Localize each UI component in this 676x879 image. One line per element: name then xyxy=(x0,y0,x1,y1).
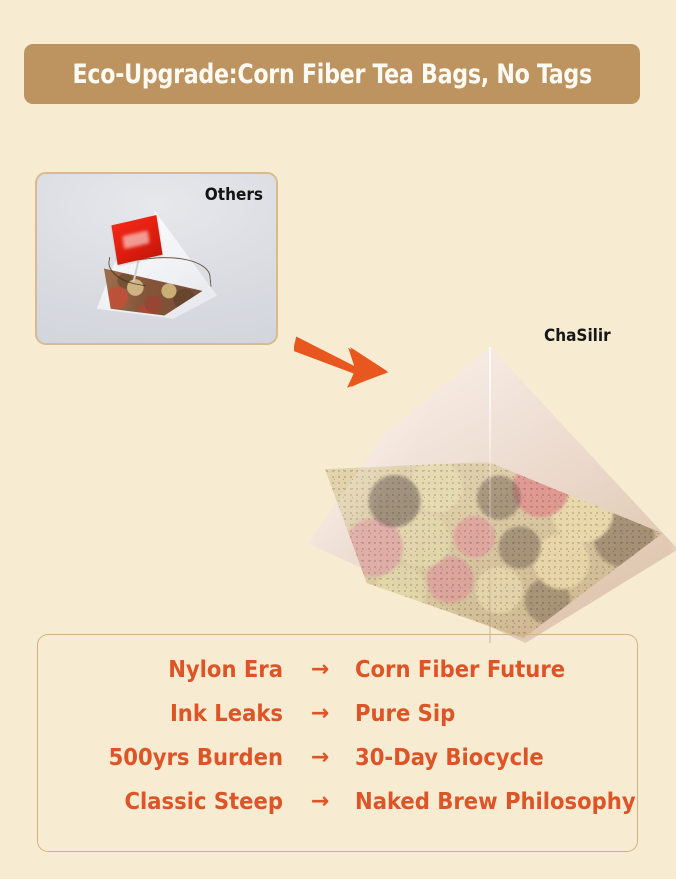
row-arrow-icon: → xyxy=(285,701,355,726)
others-label: Others xyxy=(205,185,263,205)
row-before-label: 500yrs Burden xyxy=(38,743,285,771)
table-row: Classic Steep → Naked Brew Philosophy xyxy=(38,779,637,823)
row-before-label: Ink Leaks xyxy=(38,699,285,727)
row-before-label: Classic Steep xyxy=(38,787,285,815)
teabag-front-crease xyxy=(489,347,491,643)
row-after-label: 30-Day Biocycle xyxy=(355,743,637,771)
chasilir-label: ChaSilir xyxy=(544,326,611,346)
others-product-photo-card: Others xyxy=(35,172,278,345)
row-after-label: Naked Brew Philosophy xyxy=(355,787,637,815)
header-banner: Eco-Upgrade:Corn Fiber Tea Bags, No Tags xyxy=(24,44,640,104)
page-title: Eco-Upgrade:Corn Fiber Tea Bags, No Tags xyxy=(72,59,591,90)
table-row: Nylon Era → Corn Fiber Future xyxy=(38,647,637,691)
row-before-label: Nylon Era xyxy=(38,655,285,683)
comparison-table: Nylon Era → Corn Fiber Future Ink Leaks … xyxy=(37,634,638,852)
row-arrow-icon: → xyxy=(285,789,355,814)
pyramid-teabag-no-tag-icon xyxy=(306,344,676,646)
table-row: 500yrs Burden → 30-Day Biocycle xyxy=(38,735,637,779)
table-row: Ink Leaks → Pure Sip xyxy=(38,691,637,735)
row-after-label: Pure Sip xyxy=(355,699,637,727)
row-arrow-icon: → xyxy=(285,745,355,770)
row-after-label: Corn Fiber Future xyxy=(355,655,637,683)
row-arrow-icon: → xyxy=(285,657,355,682)
